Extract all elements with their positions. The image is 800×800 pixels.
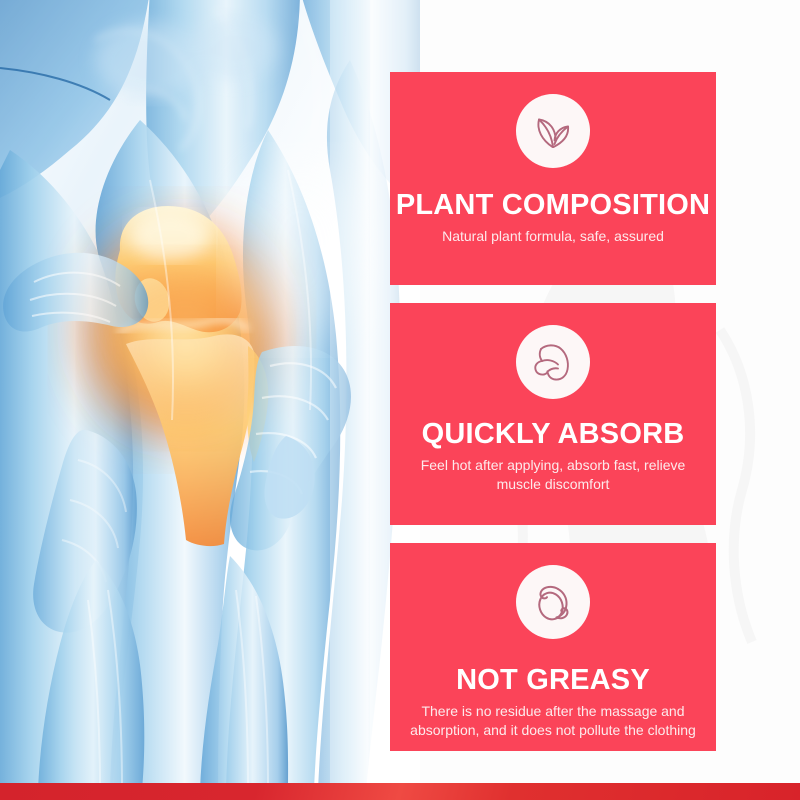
feature-card-subtitle: Feel hot after applying, absorb fast, re…	[404, 456, 702, 492]
feature-card-quickly-absorb[interactable]: QUICKLY ABSORB Feel hot after applying, …	[390, 303, 716, 525]
infographic-poster: PLANT COMPOSITION Natural plant formula,…	[0, 0, 800, 800]
flexed-bicep-icon	[528, 337, 578, 387]
feature-card-title: QUICKLY ABSORB	[422, 419, 685, 449]
feature-card-not-greasy[interactable]: NOT GREASY There is no residue after the…	[390, 543, 716, 751]
leaf-icon-badge	[516, 94, 590, 168]
feature-card-list: PLANT COMPOSITION Natural plant formula,…	[390, 72, 716, 751]
feature-card-plant-composition[interactable]: PLANT COMPOSITION Natural plant formula,…	[390, 72, 716, 285]
oil-swirl-icon	[528, 577, 578, 627]
knee-pain-illustration	[0, 0, 420, 790]
feature-card-title: PLANT COMPOSITION	[396, 190, 710, 220]
feature-card-title: NOT GREASY	[456, 665, 650, 695]
footer-accent-bar	[0, 783, 800, 800]
feature-card-subtitle: Natural plant formula, safe, assured	[442, 227, 664, 245]
feature-card-subtitle: There is no residue after the massage an…	[404, 702, 702, 738]
oil-swirl-icon-badge	[516, 565, 590, 639]
flexed-bicep-icon-badge	[516, 325, 590, 399]
leaf-icon	[528, 106, 578, 156]
